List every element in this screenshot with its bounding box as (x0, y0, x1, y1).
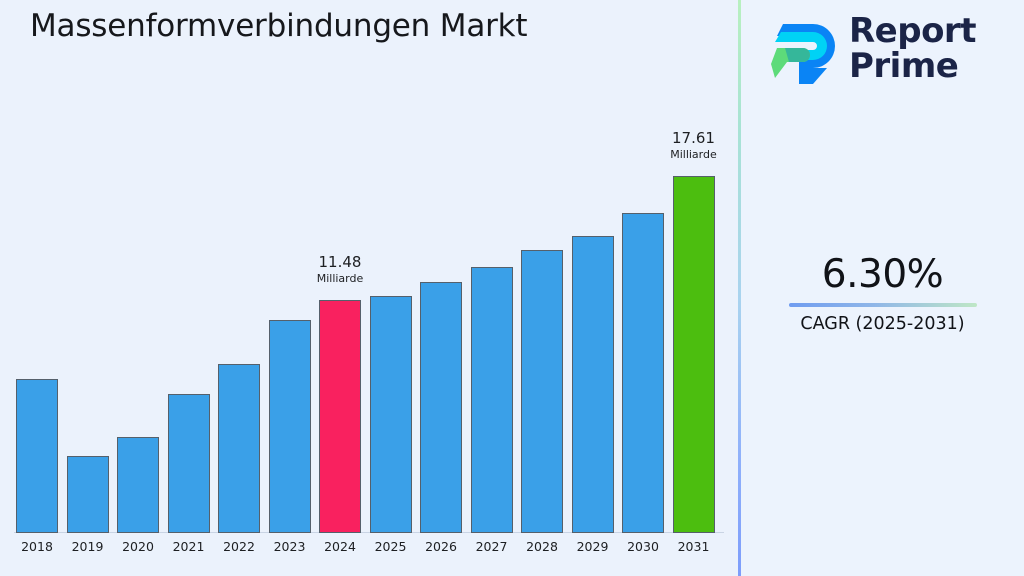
screenshot-root: Massenformverbindungen Markt 20182019202… (0, 0, 1024, 576)
chart-panel: Massenformverbindungen Markt 20182019202… (0, 0, 739, 576)
x-tick-2020: 2020 (113, 539, 164, 554)
x-tick-2019: 2019 (62, 539, 113, 554)
bar-rect-2029 (572, 236, 614, 533)
cagr-block: 6.30% CAGR (2025-2031) (741, 252, 1024, 334)
bar-rect-2027 (471, 267, 513, 533)
x-tick-2021: 2021 (163, 539, 214, 554)
bar-2022[interactable] (218, 364, 260, 533)
bar-rect-2024 (319, 300, 361, 533)
x-tick-2028: 2028 (517, 539, 568, 554)
bar-2019[interactable] (67, 456, 109, 533)
bar-data-label-value-2031: 17.61 (639, 131, 749, 147)
x-tick-2027: 2027 (466, 539, 517, 554)
bar-data-label-value-2024: 11.48 (285, 255, 395, 271)
x-tick-2024: 2024 (315, 539, 366, 554)
x-tick-2026: 2026 (416, 539, 467, 554)
brand-logo-text: Report Prime (849, 14, 976, 83)
cagr-caption: CAGR (2025-2031) (741, 314, 1024, 334)
x-tick-2025: 2025 (365, 539, 416, 554)
cagr-divider-rule (789, 303, 977, 307)
bar-rect-2020 (117, 437, 159, 533)
brand-logo-line2: Prime (849, 49, 976, 84)
bar-2031[interactable] (673, 176, 715, 533)
x-tick-2022: 2022 (214, 539, 265, 554)
bar-2028[interactable] (521, 250, 563, 533)
report-prime-logo-mark-icon (769, 18, 841, 86)
brand-logo: Report Prime (761, 12, 1009, 92)
brand-logo-line1: Report (849, 11, 976, 51)
bar-data-label-2031: 17.61Milliarde (639, 131, 749, 160)
info-panel: Report Prime 6.30% CAGR (2025-2031) (741, 0, 1024, 576)
bar-2026[interactable] (420, 282, 462, 533)
bar-rect-2031 (673, 176, 715, 533)
bar-data-label-unit-2024: Milliarde (285, 273, 395, 285)
bar-rect-2026 (420, 282, 462, 533)
bar-2025[interactable] (370, 296, 412, 533)
cagr-value: 6.30% (741, 252, 1024, 297)
bar-2029[interactable] (572, 236, 614, 533)
bar-2020[interactable] (117, 437, 159, 533)
bar-rect-2019 (67, 456, 109, 533)
x-tick-2030: 2030 (618, 539, 669, 554)
x-tick-2023: 2023 (264, 539, 315, 554)
bar-2024[interactable] (319, 300, 361, 533)
bar-2018[interactable] (16, 379, 58, 533)
bar-2023[interactable] (269, 320, 311, 533)
bar-rect-2028 (521, 250, 563, 533)
bar-rect-2021 (168, 394, 210, 533)
bar-2027[interactable] (471, 267, 513, 533)
bar-2030[interactable] (622, 213, 664, 533)
bar-2021[interactable] (168, 394, 210, 533)
bar-rect-2025 (370, 296, 412, 533)
bar-data-label-unit-2031: Milliarde (639, 149, 749, 161)
page-title: Massenformverbindungen Markt (30, 8, 527, 44)
bar-rect-2030 (622, 213, 664, 533)
x-tick-2029: 2029 (567, 539, 618, 554)
bar-rect-2022 (218, 364, 260, 533)
bar-data-label-2024: 11.48Milliarde (285, 255, 395, 284)
bar-rect-2023 (269, 320, 311, 533)
bar-rect-2018 (16, 379, 58, 533)
x-tick-2031: 2031 (668, 539, 719, 554)
x-tick-2018: 2018 (12, 539, 63, 554)
